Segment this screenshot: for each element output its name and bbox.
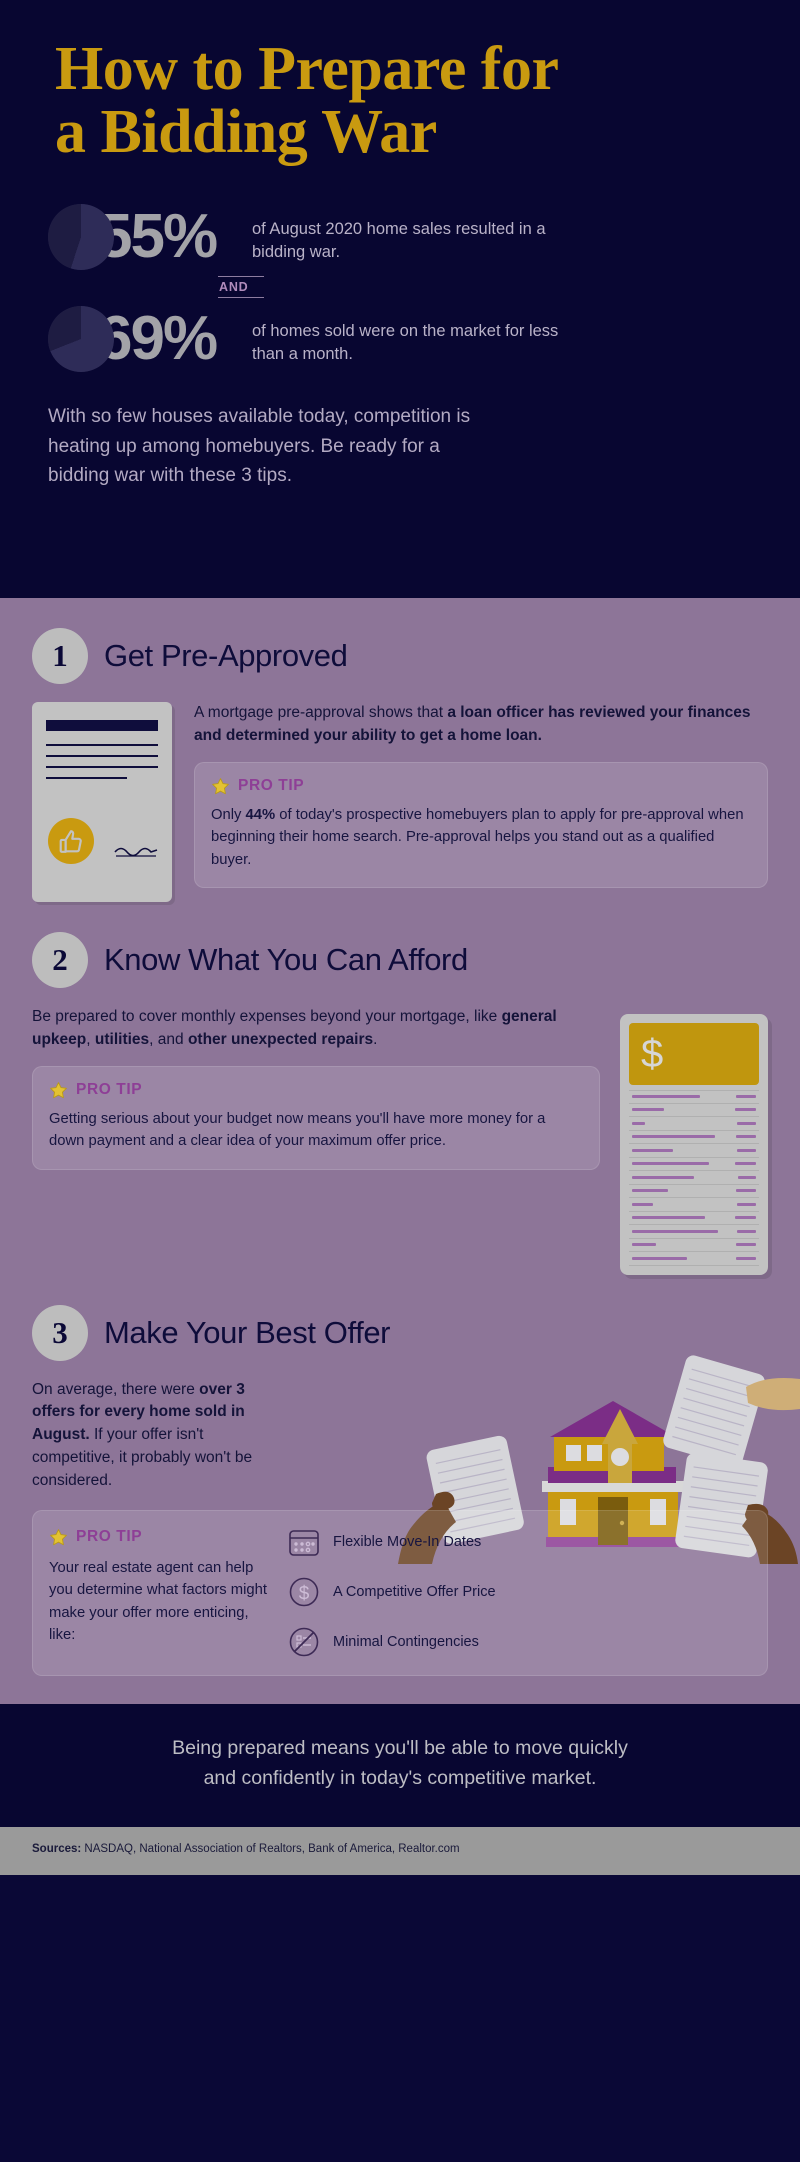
budget-header: $ <box>629 1023 759 1085</box>
protip-box-2: PRO TIP Getting serious about your budge… <box>32 1066 600 1170</box>
no-contingency-icon <box>287 1625 321 1659</box>
budget-sheet-illustration: $ <box>620 1014 768 1275</box>
pie-chart-69-icon <box>48 306 114 372</box>
mortgage-document-illustration <box>32 702 172 902</box>
protip-1-bold: 44% <box>246 807 276 823</box>
budget-row <box>629 1185 759 1199</box>
infographic-page: How to Prepare for a Bidding War 55% of … <box>0 0 800 2162</box>
feature-label: Flexible Move-In Dates <box>333 1534 481 1550</box>
protip-1-post: of today's prospective homebuyers plan t… <box>211 807 744 868</box>
section-2-badge: 2 <box>32 932 88 988</box>
protip-2-header: PRO TIP <box>49 1081 583 1100</box>
budget-row <box>629 1104 759 1118</box>
stat-percent-69: 69% <box>98 308 252 370</box>
section-2-body: Be prepared to cover monthly expenses be… <box>32 1006 600 1052</box>
offer-factors-list: Flexible Move-In Dates $ A Competitive O… <box>287 1525 751 1659</box>
section-1-header: 1 Get Pre-Approved <box>32 598 768 702</box>
section-3-body-p1: On average, there were <box>32 1381 199 1398</box>
section-2-title: Know What You Can Afford <box>104 942 468 978</box>
hero-section: How to Prepare for a Bidding War 55% of … <box>0 0 800 598</box>
and-divider: AND <box>218 276 264 298</box>
star-icon <box>49 1528 68 1547</box>
protip-1-body: Only 44% of today's prospective homebuye… <box>211 804 751 871</box>
budget-row <box>629 1212 759 1226</box>
title-line-2: a Bidding War <box>55 101 745 164</box>
budget-row <box>629 1090 759 1104</box>
protip-box-3: PRO TIP Your real estate agent can help … <box>32 1510 768 1676</box>
section-3-badge: 3 <box>32 1305 88 1361</box>
budget-row <box>629 1252 759 1266</box>
calendar-icon <box>287 1525 321 1559</box>
section-1-title: Get Pre-Approved <box>104 638 347 674</box>
closing-line-1: Being prepared means you'll be able to m… <box>60 1734 740 1763</box>
section-2-body-p4: . <box>373 1031 377 1048</box>
section-2-body-p1: Be prepared to cover monthly expenses be… <box>32 1008 502 1025</box>
budget-row <box>629 1131 759 1145</box>
section-3-body: On average, there were over 3 offers for… <box>32 1379 282 1493</box>
budget-row <box>629 1239 759 1253</box>
section-2-body-p2: , <box>86 1031 95 1048</box>
protip-2-body: Getting serious about your budget now me… <box>49 1108 583 1153</box>
section-2-body-b2: utilities <box>95 1031 149 1048</box>
section-know-what-you-can-afford: 2 Know What You Can Afford Be prepared t… <box>0 902 800 1275</box>
document-line <box>46 777 127 779</box>
section-make-your-best-offer: 3 Make Your Best Offer <box>0 1275 800 1677</box>
signature-squiggle-icon <box>114 844 158 858</box>
section-1-body: A mortgage pre-approval shows that a loa… <box>194 702 768 748</box>
svg-text:$: $ <box>299 1584 310 1605</box>
budget-row <box>629 1198 759 1212</box>
section-2-body-b3: other unexpected repairs <box>188 1031 373 1048</box>
and-line-bottom <box>218 297 264 298</box>
feature-label: Minimal Contingencies <box>333 1634 479 1650</box>
stat-text-55: of August 2020 home sales resulted in a … <box>252 200 592 264</box>
offer-paper-top-right <box>661 1353 766 1468</box>
dollar-circle-icon: $ <box>287 1575 321 1609</box>
protip-box-1: PRO TIP Only 44% of today's prospective … <box>194 762 768 888</box>
feature-minimal-contingencies: Minimal Contingencies <box>287 1625 751 1659</box>
section-2-header: 2 Know What You Can Afford <box>32 902 768 1006</box>
title-line-1: How to Prepare for <box>55 35 559 103</box>
document-line <box>46 744 158 746</box>
stat-text-69: of homes sold were on the market for les… <box>252 302 592 366</box>
page-title: How to Prepare for a Bidding War <box>0 38 800 164</box>
sources-bar: Sources: NASDAQ, National Association of… <box>0 1827 800 1875</box>
section-3-title: Make Your Best Offer <box>104 1315 390 1351</box>
dollar-sign-icon: $ <box>641 1034 663 1074</box>
feature-flexible-move-in: Flexible Move-In Dates <box>287 1525 751 1559</box>
protip-3-header: PRO TIP <box>49 1525 267 1549</box>
budget-table <box>629 1090 759 1266</box>
protip-3-label: PRO TIP <box>76 1525 142 1549</box>
protip-1-header: PRO TIP <box>211 777 751 796</box>
budget-row <box>629 1225 759 1239</box>
sources-text: NASDAQ, National Association of Realtors… <box>81 1843 459 1855</box>
hero-stats: 55% of August 2020 home sales resulted i… <box>0 200 800 372</box>
budget-row <box>629 1158 759 1172</box>
budget-row <box>629 1171 759 1185</box>
feature-competitive-price: $ A Competitive Offer Price <box>287 1575 751 1609</box>
hero-lede: With so few houses available today, comp… <box>0 372 560 490</box>
protip-2-label: PRO TIP <box>76 1081 142 1099</box>
sources-label: Sources: <box>32 1843 81 1855</box>
protip-3-body: Your real estate agent can help you dete… <box>49 1557 267 1647</box>
budget-row <box>629 1144 759 1158</box>
stat-row-55: 55% of August 2020 home sales resulted i… <box>48 200 800 270</box>
star-icon <box>211 777 230 796</box>
section-get-pre-approved: 1 Get Pre-Approved <box>0 598 800 902</box>
document-header-bar <box>46 720 158 731</box>
and-label: AND <box>218 277 264 297</box>
star-icon <box>49 1081 68 1100</box>
section-1-badge: 1 <box>32 628 88 684</box>
document-line <box>46 755 158 757</box>
stat-percent-55: 55% <box>98 206 252 268</box>
section-1-body-plain: A mortgage pre-approval shows that <box>194 704 447 721</box>
protip-1-pre: Only <box>211 807 246 823</box>
pie-chart-55-icon <box>48 204 114 270</box>
closing-line-2: and confidently in today's competitive m… <box>60 1764 740 1793</box>
closing-statement: Being prepared means you'll be able to m… <box>0 1704 800 1827</box>
tips-body: 1 Get Pre-Approved <box>0 598 800 1704</box>
stat-row-69: 69% of homes sold were on the market for… <box>48 302 800 372</box>
document-line <box>46 766 158 768</box>
protip-1-label: PRO TIP <box>238 777 304 795</box>
approval-seal-icon <box>48 818 94 864</box>
feature-label: A Competitive Offer Price <box>333 1584 496 1600</box>
section-2-body-p3: , and <box>149 1031 188 1048</box>
budget-row <box>629 1117 759 1131</box>
